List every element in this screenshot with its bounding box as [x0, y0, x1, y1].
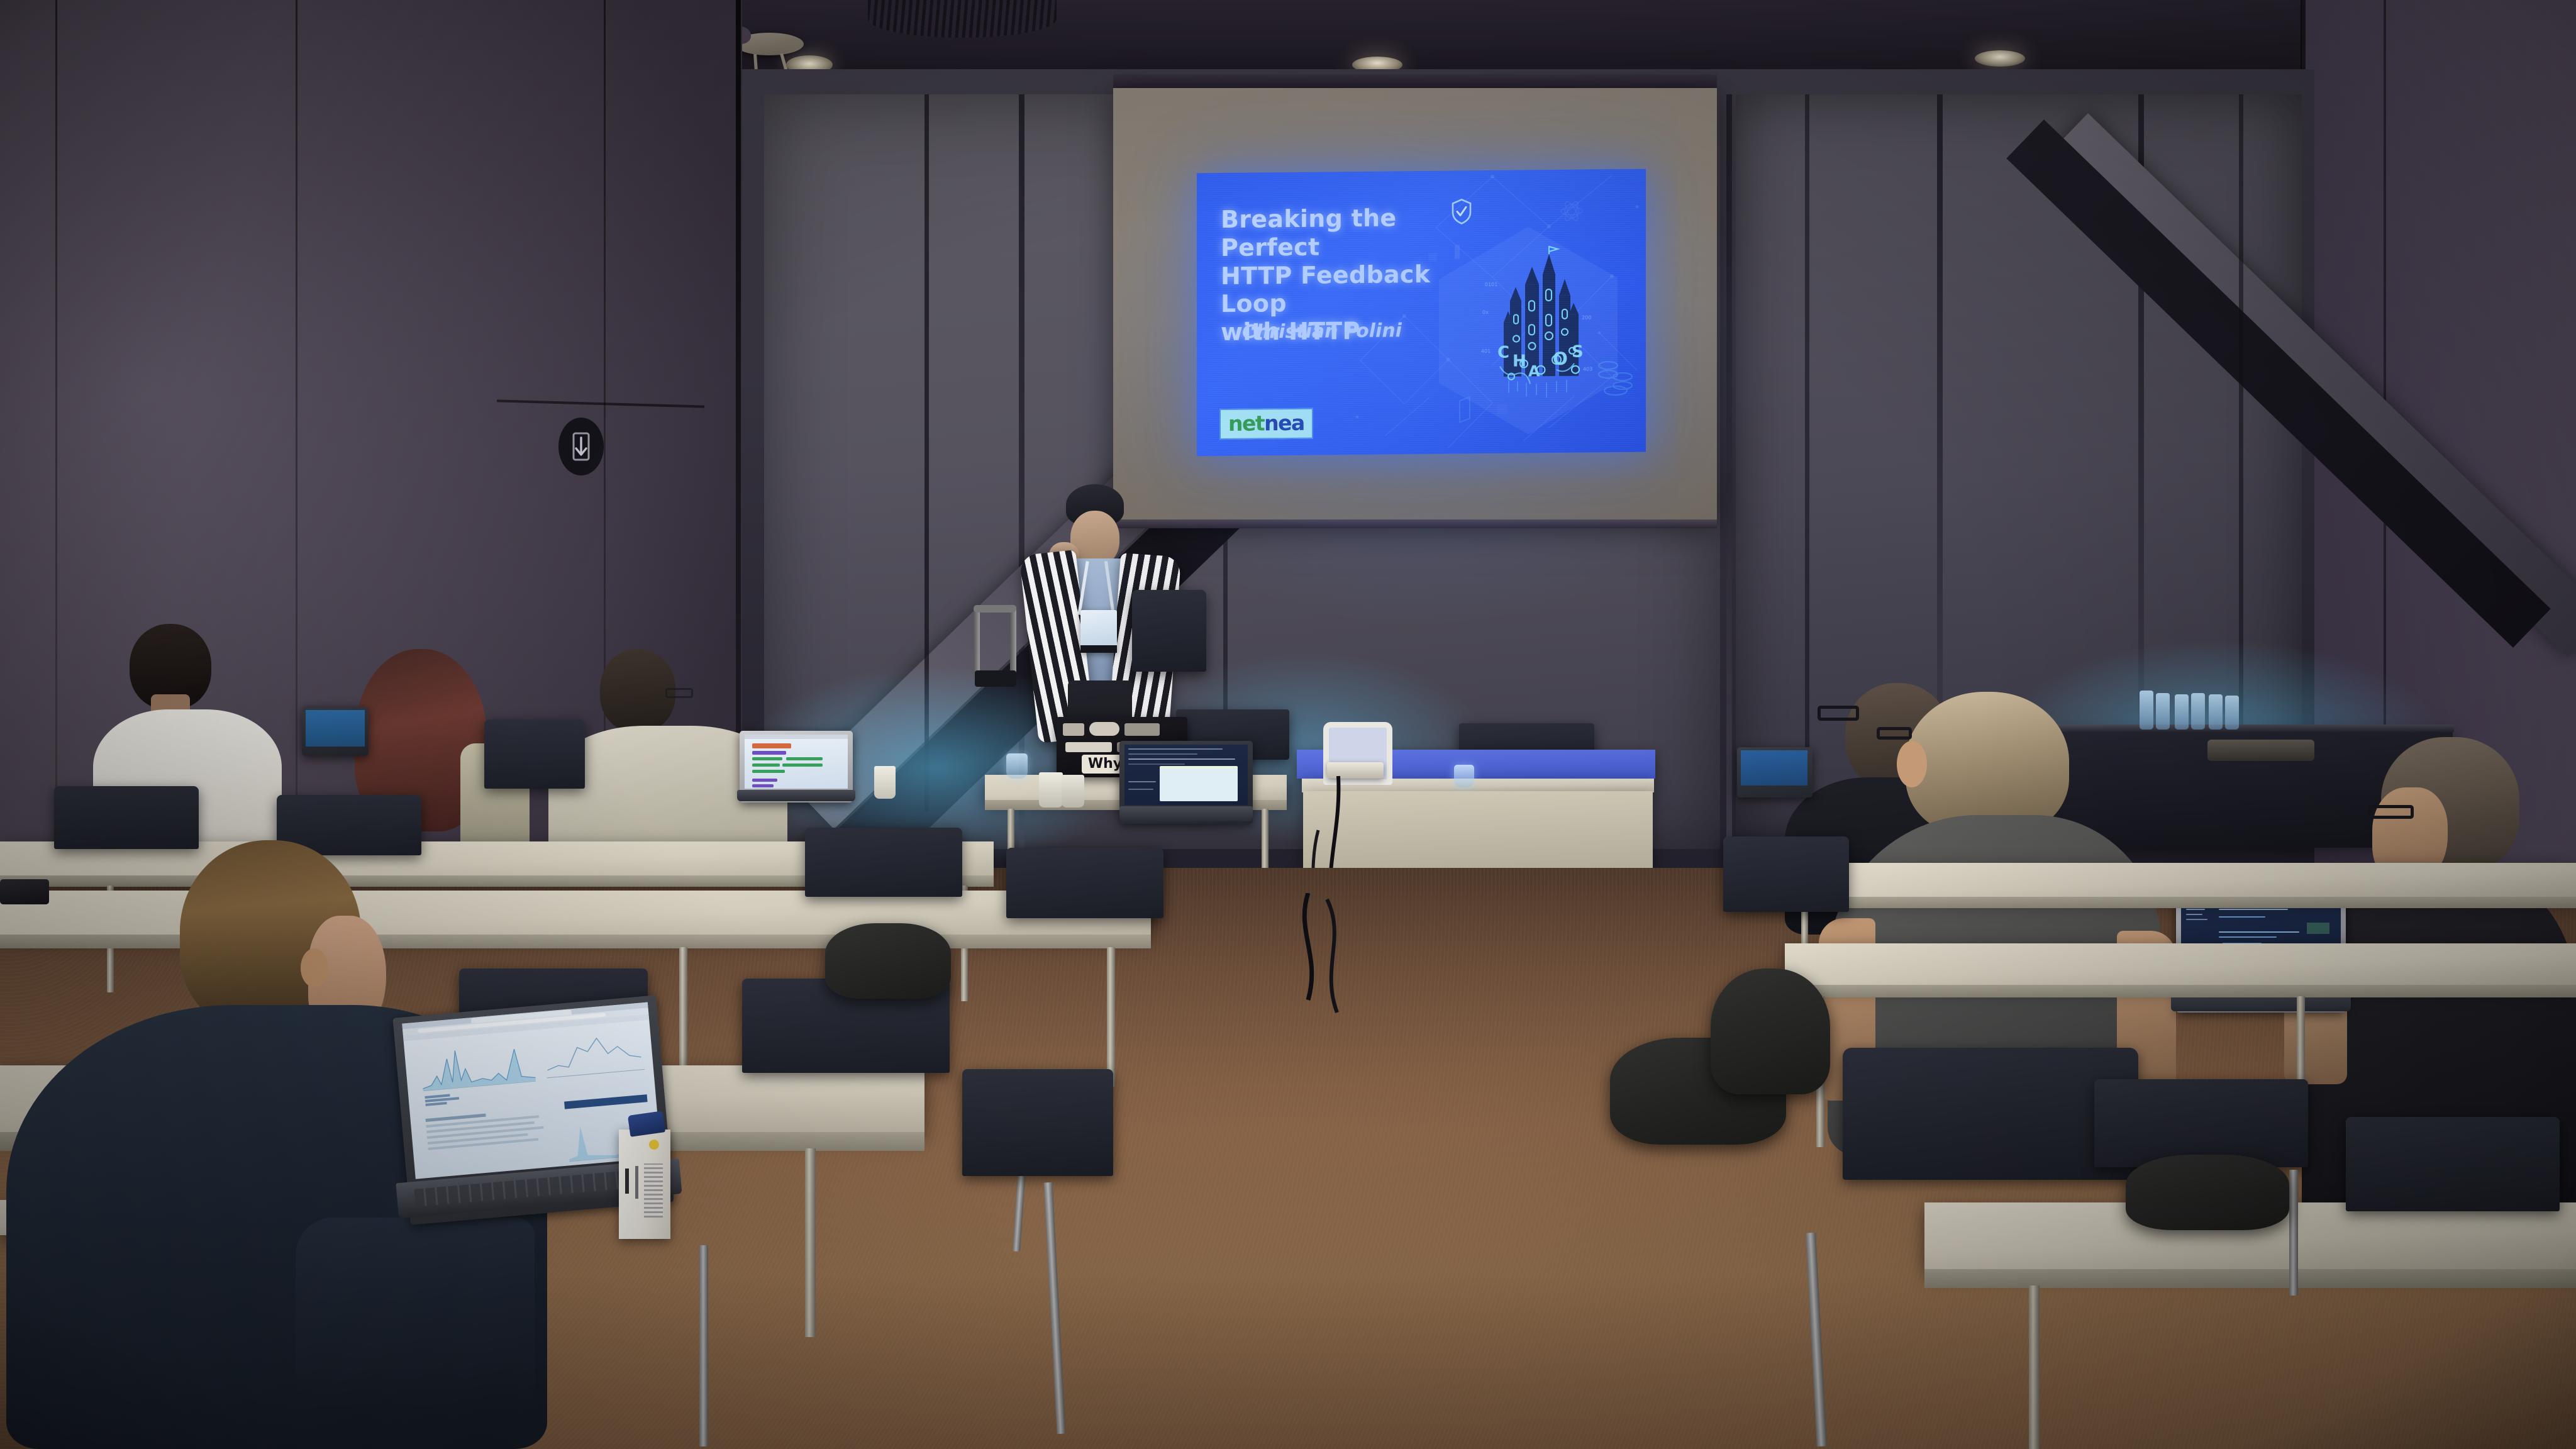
svg-text:403: 403: [1583, 366, 1592, 372]
chair-right-4-leg: [2289, 1170, 2298, 1296]
coffee-cup-3: [1062, 775, 1084, 808]
backpack-right-3: [2126, 1155, 2289, 1230]
svg-text:C: C: [1497, 343, 1509, 362]
presenter-laptop-base: [1119, 806, 1253, 821]
svg-text:S: S: [1572, 343, 1584, 362]
stage-chair-1: [1132, 590, 1206, 672]
slide-author: Christian Folini: [1242, 319, 1402, 343]
chair-left-1: [54, 786, 199, 849]
stage-panel-divider-3: [1937, 94, 1943, 774]
slide-title-line-1: Breaking the Perfect: [1221, 203, 1491, 262]
front-left-laptop-chart-1: [419, 1035, 536, 1091]
row-table-left-mid-leg-2: [1107, 947, 1115, 1087]
book-icon: [1460, 397, 1470, 422]
conference-room-scene: C H A O S 0101 401 200 403 0x: [0, 0, 2576, 1449]
chaos-castle-illustration: C H A O S 0101 401 200 403 0x: [1481, 240, 1601, 411]
screen-bottom-weight-bar: [1113, 519, 1717, 528]
attendee-far-right-glasses: [2368, 805, 2414, 819]
presenter-badge-stripe: [1080, 645, 1117, 653]
right-back-laptop-screen: [1741, 750, 1807, 786]
attendee-foreground-arm: [296, 1218, 535, 1406]
row-table-right-front-edge: [1924, 1269, 2576, 1288]
coffee-cup-1: [874, 766, 896, 799]
svg-text:O: O: [1553, 348, 1568, 369]
row-table-left-front-leg-2: [805, 1148, 816, 1337]
stage-mullion-3: [1805, 94, 1809, 774]
chair-right-1: [1723, 836, 1849, 912]
presenter-water-glass: [1006, 753, 1028, 779]
chair-left-4: [805, 828, 962, 897]
chair-left-8-leg-2: [699, 1245, 708, 1446]
presentation-slide: C H A O S 0101 401 200 403 0x: [1197, 169, 1646, 457]
right-back-laptop: [1737, 747, 1813, 797]
power-brick: [0, 879, 49, 904]
front-left-laptop-chart-2: [543, 1026, 645, 1080]
stage-panel-divider-2: [1726, 94, 1732, 849]
svg-text:401: 401: [1481, 348, 1491, 354]
row-table-right-back-edge: [1748, 897, 2576, 908]
backpack-left: [825, 923, 951, 999]
row-table-right-front-leg: [2029, 1285, 2040, 1449]
backpack-right-2: [1711, 969, 1830, 1094]
chair-left-3: [484, 719, 585, 789]
down-arrow-icon: [558, 418, 604, 475]
down-arrow-glyph: [570, 431, 592, 462]
stage-mullion-4: [2239, 94, 2243, 761]
row-table-left-mid-leg-1: [679, 947, 687, 1073]
netnea-logo: netnea: [1219, 408, 1313, 440]
chair-right-3: [2094, 1079, 2308, 1167]
attendee-grey-sweater-glasses-icon: [665, 688, 693, 698]
svg-text:200: 200: [1582, 314, 1591, 320]
water-glass: [1454, 765, 1474, 787]
chair-right-4: [2346, 1117, 2560, 1211]
presenter-laptop-screen: [1124, 745, 1248, 805]
presenter-open-laptop: [1119, 741, 1253, 824]
chair-left-5: [1006, 848, 1163, 918]
mid-left-macbook-base: [737, 790, 855, 801]
front-left-laptop-table: [425, 1105, 560, 1153]
attendee-grey-sweater-head: [600, 649, 675, 732]
milk-carton: [619, 1130, 670, 1239]
slide-title-line-2: HTTP Feedback Loop: [1221, 260, 1491, 319]
logo-text-net: net: [1228, 411, 1264, 436]
stage-mullion-1: [924, 94, 929, 811]
attendee-foreground-ear: [301, 948, 328, 987]
coffee-cup-2: [1039, 772, 1063, 808]
ceiling-vent: [868, 0, 1057, 38]
row-table-right-back: [1748, 863, 2576, 898]
row-table-right-mid: [1785, 943, 2576, 986]
presenter-stool: [974, 605, 1023, 716]
svg-text:H: H: [1513, 352, 1526, 370]
presenter-laptop-note-window: [1160, 766, 1238, 801]
attendee-right-grey-tshirt-glasses: [1877, 727, 1912, 740]
mid-left-blue-laptop: [302, 707, 369, 756]
mid-left-macbook: [740, 731, 853, 802]
milk-carton-cap: [628, 1111, 665, 1136]
attendee-right-grey-tshirt-ear: [1897, 741, 1927, 787]
mid-left-blue-laptop-screen: [306, 710, 365, 747]
recessed-ceiling-light-right: [1975, 50, 2025, 67]
logo-text-nea: nea: [1264, 411, 1304, 436]
floor-cables: [1283, 893, 1459, 1019]
chair-left-8: [962, 1069, 1113, 1176]
svg-text:A: A: [1528, 362, 1540, 380]
mid-left-macbook-screen: [745, 735, 848, 789]
row-table-right-mid-edge: [1785, 985, 2576, 997]
